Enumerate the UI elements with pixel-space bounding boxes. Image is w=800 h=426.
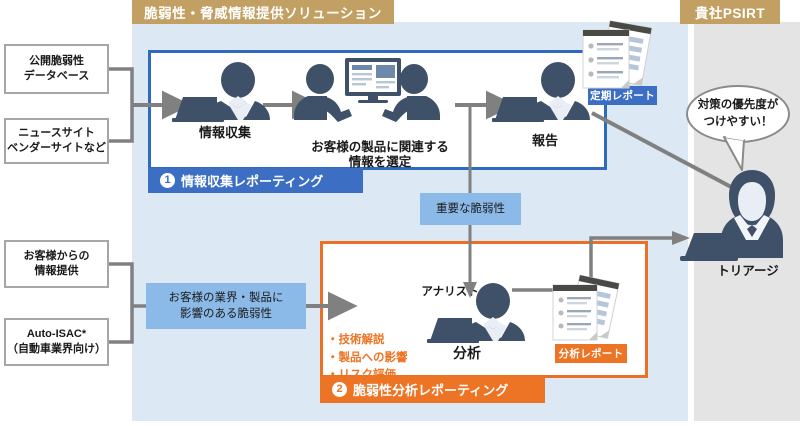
source-line1: ニュースサイト: [7, 126, 106, 141]
caption-analyst: アナリスト: [415, 285, 485, 299]
badge-periodic-report: 定期レポート: [588, 86, 657, 105]
section-2-bullets: ・技術解説 ・製品への影響 ・リスク評価: [327, 314, 437, 385]
section-1-bar: 1 情報収集レポーティング: [148, 168, 363, 193]
badge-analysis-report: 分析レポート: [555, 344, 627, 363]
source-line2: （自動車業界向け）: [7, 342, 106, 357]
caption-info-collection: 情報収集: [175, 125, 275, 141]
source-line2: データベース: [24, 69, 89, 84]
source-line2: ベンダーサイトなど: [7, 141, 106, 156]
speech-bubble-priority: 対策の優先度が つけやすい！: [686, 85, 790, 143]
source-line1: 公開脆弱性: [24, 54, 89, 69]
source-line2: 情報提供: [24, 264, 90, 279]
source-box-news-vendor-sites: ニュースサイト ベンダーサイトなど: [4, 118, 109, 164]
solution-title-tab: 脆弱性・脅威情報提供ソリューション: [132, 0, 394, 24]
source-box-auto-isac: Auto-ISAC* （自動車業界向け）: [4, 318, 109, 366]
caption-report: 報告: [500, 133, 590, 149]
customer-vuln-line1: お客様の業界・製品に: [169, 290, 284, 306]
section-1-label: 情報収集レポーティング: [181, 171, 323, 190]
caption-triage: トリアージ: [700, 264, 796, 280]
source-line1: Auto-ISAC*: [7, 327, 106, 342]
diagram-canvas: 脆弱性・脅威情報提供ソリューション 貴社PSIRT 公開脆弱性 データベース ニ…: [0, 0, 800, 426]
customer-vuln-line2: 影響のある脆弱性: [169, 306, 284, 322]
source-box-customer-info: お客様からの 情報提供: [4, 240, 109, 288]
critical-vuln-text: 重要な脆弱性: [436, 201, 505, 217]
section-1-number: 1: [160, 173, 175, 188]
label-box-customer-vulnerability: お客様の業界・製品に 影響のある脆弱性: [146, 283, 306, 329]
bubble-line1: 対策の優先度が: [698, 97, 779, 114]
label-box-critical-vulnerability: 重要な脆弱性: [420, 193, 521, 225]
source-line1: お客様からの: [24, 249, 90, 264]
psirt-title-tab: 貴社PSIRT: [680, 0, 780, 24]
caption-analysis: 分析: [432, 345, 502, 363]
psirt-title-text: 貴社PSIRT: [695, 2, 765, 22]
analysis-report-text: 分析レポート: [559, 346, 624, 361]
caption-select-relevant-info: お客様の製品に関連する 情報を選定: [290, 124, 470, 171]
solution-title-text: 脆弱性・脅威情報提供ソリューション: [144, 2, 382, 22]
periodic-report-text: 定期レポート: [590, 88, 655, 103]
bubble-line2: つけやすい！: [698, 114, 779, 131]
psirt-panel: [694, 22, 800, 421]
source-box-public-vuln-db: 公開脆弱性 データベース: [4, 44, 109, 94]
